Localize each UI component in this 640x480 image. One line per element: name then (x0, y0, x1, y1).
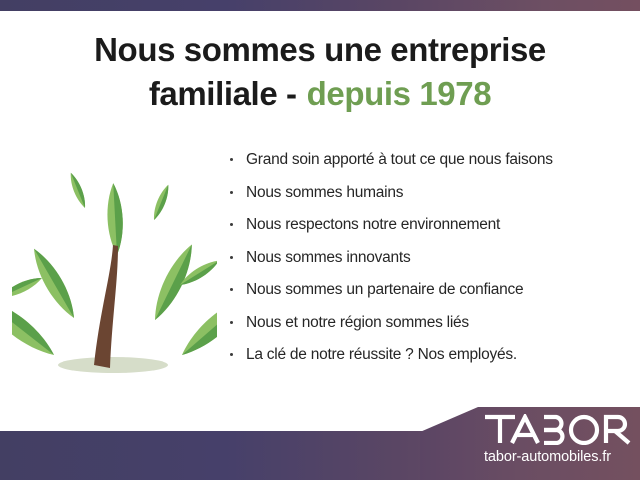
list-item-label: Nous respectons notre environnement (246, 216, 500, 233)
list-item-label: Nous sommes humains (246, 184, 403, 201)
headline-line-2: familiale -depuis 1978 (0, 72, 640, 116)
tree-leaf (176, 289, 217, 362)
tree-trunk (94, 245, 118, 368)
bullet-dot-icon (230, 321, 233, 324)
list-item-label: Nous et notre région sommes liés (246, 314, 469, 331)
list-item: Nous et notre région sommes liés (228, 313, 628, 332)
bullet-dot-icon (230, 353, 233, 356)
page-title: Nous sommes une entreprise familiale -de… (0, 28, 640, 116)
bullet-dot-icon (230, 158, 233, 161)
list-item-label: Grand soin apporté à tout ce que nous fa… (246, 151, 553, 168)
tree-leaf (12, 291, 60, 363)
headline-line-2-plain: familiale - (149, 75, 297, 112)
list-item-label: Nous sommes innovants (246, 249, 410, 266)
tree-shadow (58, 357, 168, 373)
tree-leaf (12, 274, 44, 302)
list-item: La clé de notre réussite ? Nos employés. (228, 345, 628, 364)
list-item: Grand soin apporté à tout ce que nous fa… (228, 150, 628, 169)
tree-leaf (67, 171, 89, 209)
list-item: Nous sommes innovants (228, 248, 628, 267)
tree-leaf (106, 183, 125, 256)
bullet-dot-icon (230, 288, 233, 291)
headline-accent: depuis 1978 (307, 75, 492, 112)
list-item-label: La clé de notre réussite ? Nos employés. (246, 346, 517, 363)
brand-logo[interactable] (484, 414, 632, 445)
tree-leaf (147, 241, 200, 324)
bullet-dot-icon (230, 191, 233, 194)
bullet-dot-icon (230, 223, 233, 226)
slide-canvas: Nous sommes une entreprise familiale -de… (0, 0, 640, 480)
list-item: Nous sommes humains (228, 183, 628, 202)
tree-leaf (150, 183, 172, 221)
logo-tagline[interactable]: tabor-automobiles.fr (484, 449, 634, 465)
bullet-dot-icon (230, 256, 233, 259)
headline-line-1: Nous sommes une entreprise (0, 28, 640, 72)
tree-illustration (12, 150, 217, 385)
values-list: Grand soin apporté à tout ce que nous fa… (228, 150, 628, 378)
list-item: Nous respectons notre environnement (228, 215, 628, 234)
list-item-label: Nous sommes un partenaire de confiance (246, 281, 523, 298)
list-item: Nous sommes un partenaire de confiance (228, 280, 628, 299)
top-brand-bar (0, 0, 640, 11)
